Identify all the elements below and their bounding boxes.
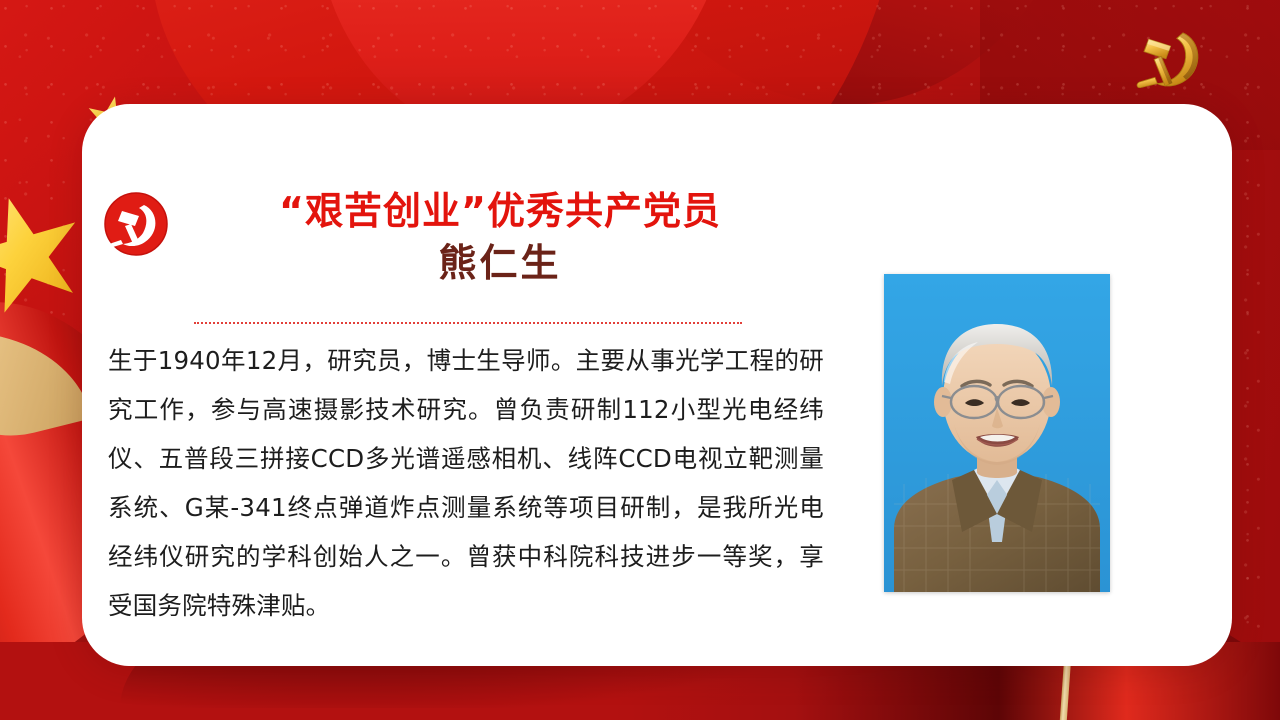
content-card: “艰苦创业”优秀共产党员 熊仁生 生于1940年12月，研究员，博士生导师。主要…	[82, 104, 1232, 666]
portrait-photo	[884, 274, 1110, 592]
hammer-sickle-emblem-icon	[1120, 22, 1218, 100]
page-title: “艰苦创业”优秀共产党员	[176, 188, 824, 234]
slide-canvas: “艰苦创业”优秀共产党员 熊仁生 生于1940年12月，研究员，博士生导师。主要…	[0, 0, 1280, 720]
divider	[194, 322, 742, 324]
cpc-party-badge-icon	[104, 192, 168, 256]
person-name: 熊仁生	[176, 238, 824, 288]
biography-text: 生于1940年12月，研究员，博士生导师。主要从事光学工程的研究工作，参与高速摄…	[108, 336, 824, 630]
title-block: “艰苦创业”优秀共产党员 熊仁生	[104, 188, 824, 289]
